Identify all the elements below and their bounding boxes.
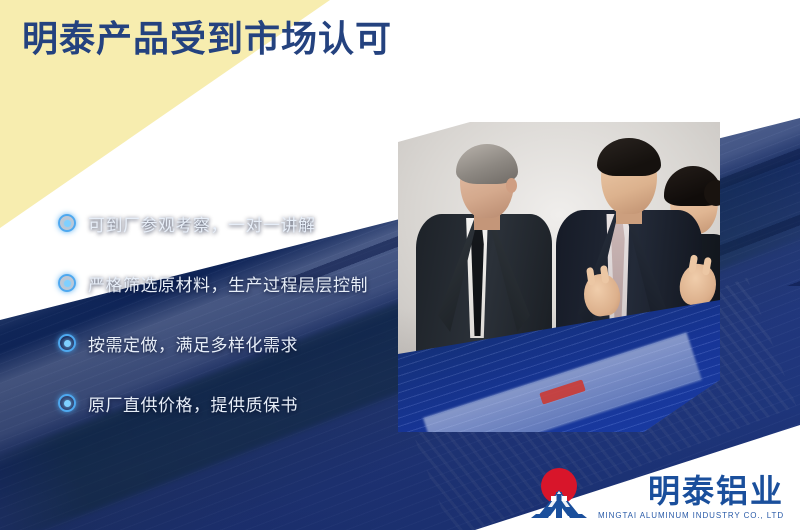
factory-building-roof xyxy=(423,332,702,432)
feature-text: 原厂直供价格，提供质保书 xyxy=(88,391,298,416)
logo-mark xyxy=(528,464,590,520)
person-left-ear xyxy=(506,178,517,193)
list-item: 可到厂参观考察，一对一讲解 xyxy=(58,208,408,238)
business-people-photo xyxy=(398,122,720,432)
feature-text: 可到厂参观考察，一对一讲解 xyxy=(88,211,316,236)
promotional-banner: 明泰产品受到市场认可 可到厂参观考察，一对一讲解 严格筛选原材料，生产过程层层控… xyxy=(0,0,800,530)
list-item: 按需定做，满足多样化需求 xyxy=(58,328,408,358)
mingtai-sun-mountain-icon xyxy=(528,464,590,520)
feature-text: 按需定做，满足多样化需求 xyxy=(88,331,298,356)
person-center-hair xyxy=(597,138,661,176)
target-ring-icon xyxy=(58,394,76,412)
logo-name-en: MINGTAI ALUMINUM INDUSTRY CO., LTD xyxy=(598,511,784,520)
list-item: 严格筛选原材料，生产过程层层控制 xyxy=(58,268,408,298)
feature-list: 可到厂参观考察，一对一讲解 严格筛选原材料，生产过程层层控制 按需定做，满足多样… xyxy=(58,208,408,418)
target-ring-icon xyxy=(58,274,76,292)
logo-text: 明泰铝业 MINGTAI ALUMINUM INDUSTRY CO., LTD xyxy=(598,475,784,520)
feature-text: 严格筛选原材料，生产过程层层控制 xyxy=(88,271,368,296)
company-logo[interactable]: 明泰铝业 MINGTAI ALUMINUM INDUSTRY CO., LTD xyxy=(528,464,784,520)
target-ring-icon xyxy=(58,214,76,232)
logo-name-cn: 明泰铝业 xyxy=(648,475,784,509)
target-ring-icon xyxy=(58,334,76,352)
list-item: 原厂直供价格，提供质保书 xyxy=(58,388,408,418)
page-title: 明泰产品受到市场认可 xyxy=(22,22,392,58)
